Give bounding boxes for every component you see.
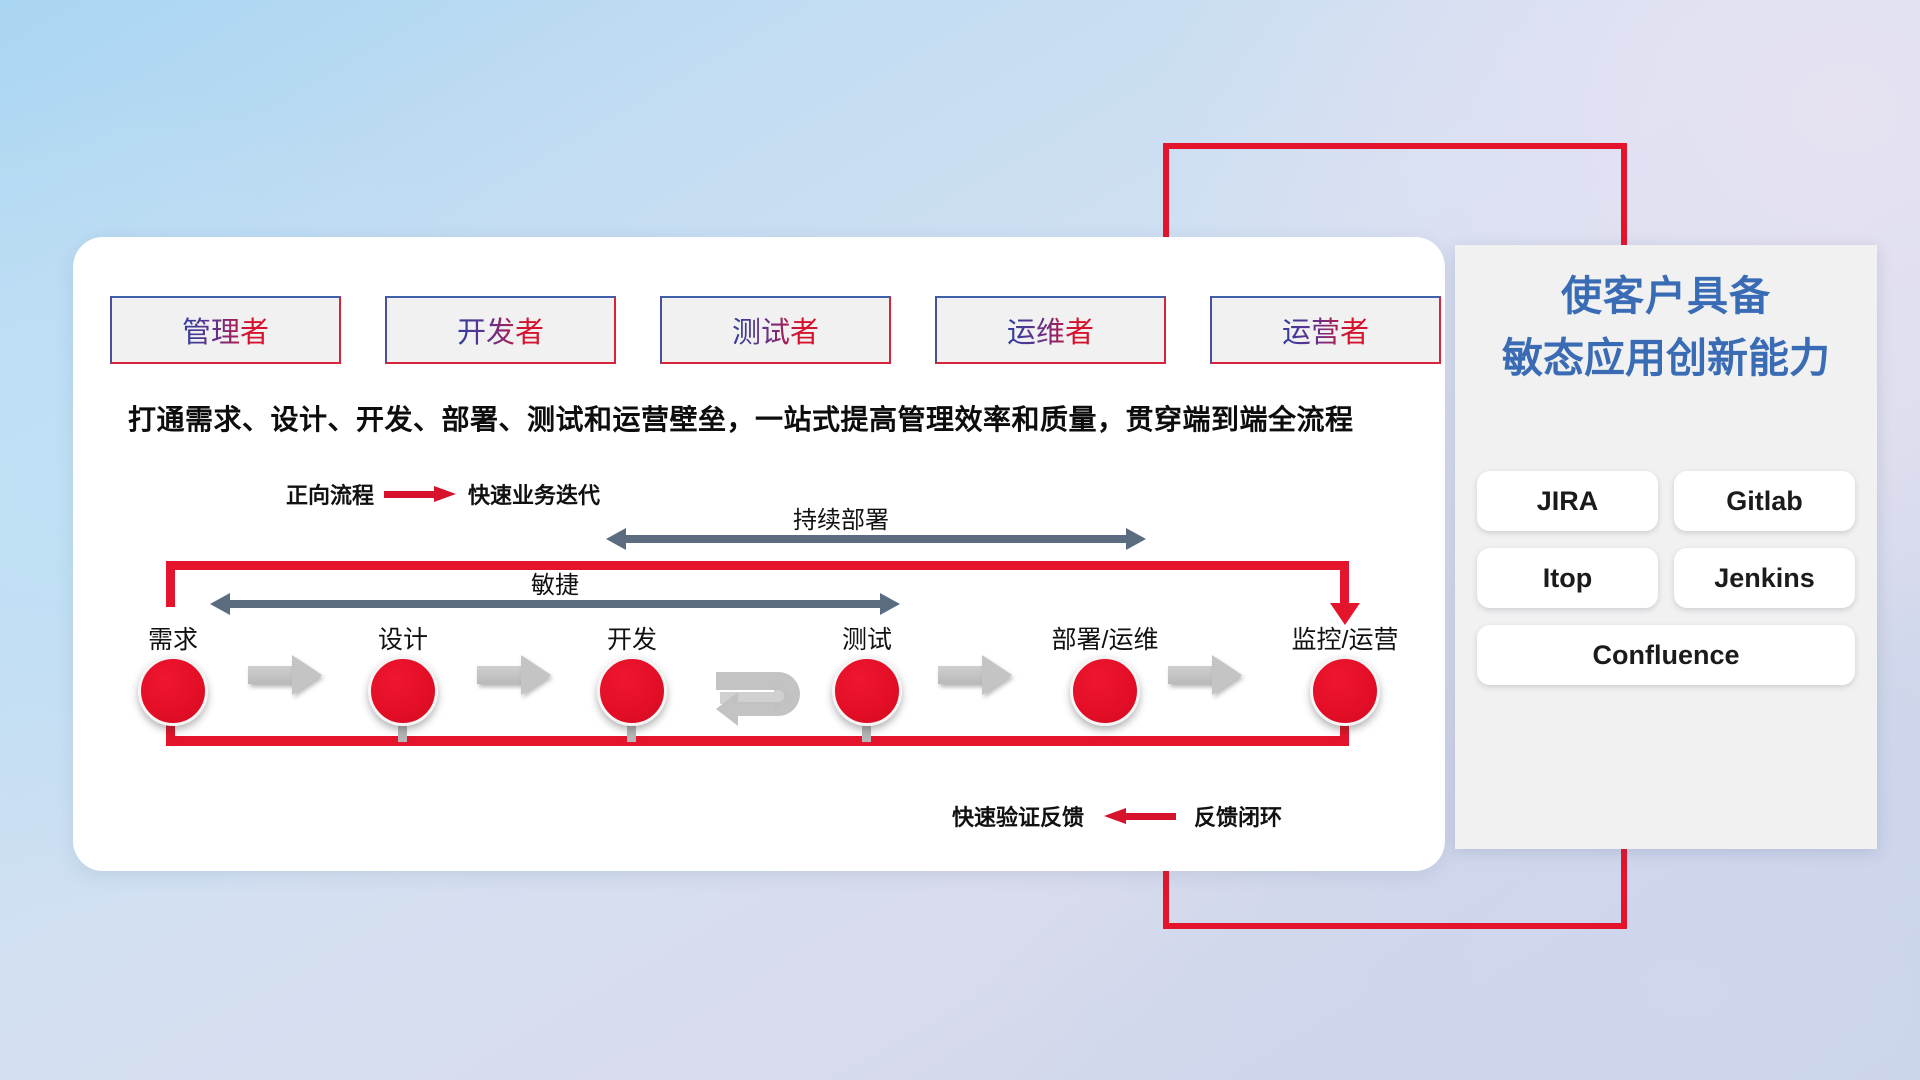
flow-arrow-4-icon [938,655,1012,695]
stage-node-icon [1070,656,1140,726]
role-label: 运维者 [1007,309,1094,351]
stage-node-icon [597,656,667,726]
value-proposition-panel: 使客户具备 敏态应用创新能力 JIRA Gitlab Itop Jenkins … [1455,245,1877,849]
panel-heading: 使客户具备 敏态应用创新能力 [1455,265,1877,389]
panel-heading-line1: 使客户具备 [1455,265,1877,327]
role-box-ops[interactable]: 运维者 [935,296,1166,364]
role-box-manager[interactable]: 管理者 [110,296,341,364]
stage-label: 设计 [378,620,428,656]
feedback-loop-label: 反馈闭环 [1194,800,1282,832]
role-boxes: 管理者 开发者 测试者 运维者 运营者 [110,296,1441,364]
role-label: 运营者 [1282,309,1369,351]
arrow-right-red-icon [384,486,458,502]
tool-chip-grid: JIRA Gitlab Itop Jenkins Confluence [1477,471,1855,685]
stage-node-icon [832,656,902,726]
flow-arrow-5-icon [1168,655,1242,695]
tool-chip-jenkins[interactable]: Jenkins [1674,548,1855,608]
role-box-developer[interactable]: 开发者 [385,296,616,364]
tool-chip-confluence[interactable]: Confluence [1477,625,1855,685]
headline-text: 打通需求、设计、开发、部署、测试和运营壁垒，一站式提高管理效率和质量，贯穿端到端… [128,398,1428,438]
stage-label: 监控/运营 [1292,620,1399,656]
stage-label: 测试 [842,620,892,656]
stage-node-icon [138,656,208,726]
role-label: 管理者 [182,309,269,351]
role-label: 开发者 [457,309,544,351]
stage-label: 需求 [148,620,198,656]
forward-flow-caption: 正向流程 快速业务迭代 [286,478,600,510]
role-box-operations[interactable]: 运营者 [1210,296,1441,364]
tool-chip-gitlab[interactable]: Gitlab [1674,471,1855,531]
fast-validation-label: 快速验证反馈 [952,800,1084,832]
fast-iteration-label: 快速业务迭代 [468,478,600,510]
tool-chip-jira[interactable]: JIRA [1477,471,1658,531]
arrow-left-red-icon [1102,808,1176,824]
role-box-tester[interactable]: 测试者 [660,296,891,364]
stage-node-icon [1310,656,1380,726]
agile-arrow-icon [210,593,900,615]
slide-canvas: 管理者 开发者 测试者 运维者 运营者 打通需求、设计、开发、部署、测试和运营壁… [0,0,1920,1080]
tool-chip-itop[interactable]: Itop [1477,548,1658,608]
stage-node-icon [368,656,438,726]
feedback-caption: 快速验证反馈 反馈闭环 [952,800,1282,832]
stage-label: 部署/运维 [1052,620,1159,656]
loop-back-arrow-icon [716,658,826,738]
flow-arrow-2-icon [477,655,551,695]
continuous-deploy-arrow-icon [606,528,1146,550]
flow-arrow-1-icon [248,655,322,695]
forward-flow-label: 正向流程 [286,478,374,510]
panel-heading-line2: 敏态应用创新能力 [1455,327,1877,389]
stage-label: 开发 [607,620,657,656]
role-label: 测试者 [732,309,819,351]
